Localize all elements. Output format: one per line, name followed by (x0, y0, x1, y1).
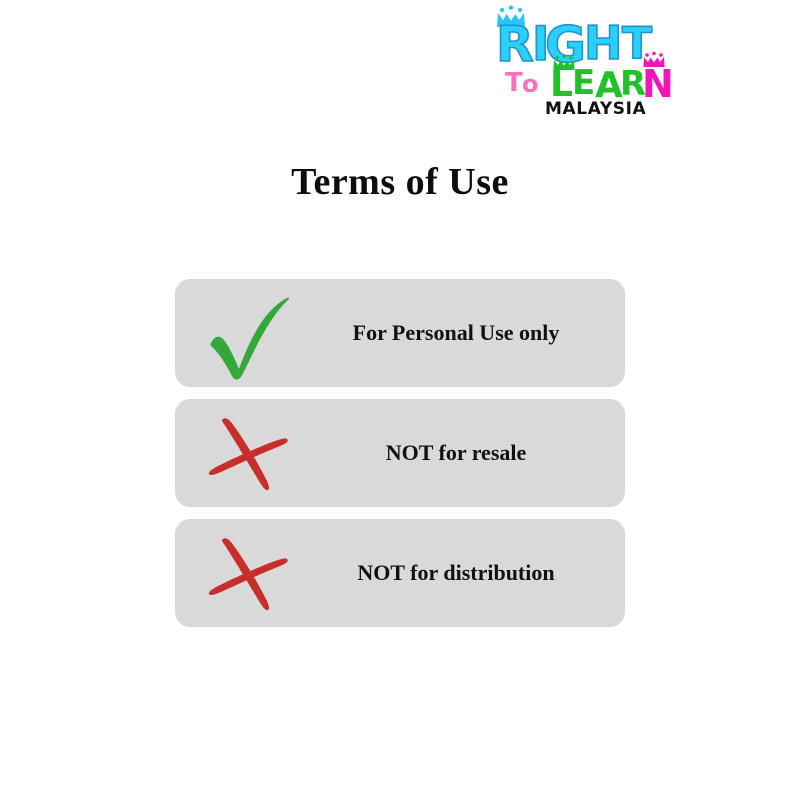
term-card: NOT for distribution (175, 519, 625, 627)
term-label: NOT for distribution (309, 560, 625, 586)
term-card: NOT for resale (175, 399, 625, 507)
svg-text:E: E (572, 63, 595, 103)
logo: R I G H T T o L E A R (492, 4, 692, 116)
svg-text:R: R (496, 16, 535, 73)
term-label: NOT for resale (309, 440, 625, 466)
terms-list: For Personal Use only NOT for resale NOT… (175, 279, 625, 627)
logo-text-malaysia: MALAYSIA (545, 99, 647, 116)
logo-text-to: T o (505, 68, 539, 98)
logo-text-learn-n: N (642, 62, 674, 106)
svg-text:T: T (505, 68, 523, 98)
check-mark-icon (189, 285, 309, 381)
svg-text:o: o (522, 70, 539, 98)
cross-mark-icon (189, 407, 309, 499)
term-card: For Personal Use only (175, 279, 625, 387)
logo-artwork: R I G H T T o L E A R (492, 4, 692, 116)
term-label: For Personal Use only (309, 320, 625, 346)
svg-text:H: H (584, 16, 623, 70)
cross-mark-icon (189, 527, 309, 619)
page-title: Terms of Use (0, 160, 800, 204)
